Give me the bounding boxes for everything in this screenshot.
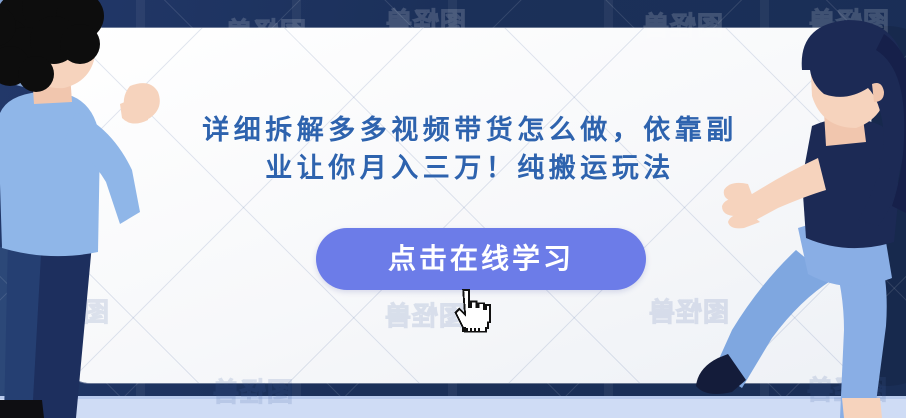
promo-banner: 详细拆解多多视频带货怎么做，依靠副 业让你月入三万！纯搬运玩法 点击在线学习 图… — [0, 0, 906, 418]
cta-label: 点击在线学习 — [388, 245, 574, 273]
banner-title: 详细拆解多多视频带货怎么做，依靠副 业让你月入三万！纯搬运玩法 — [160, 112, 780, 189]
title-line-2: 业让你月入三万！纯搬运玩法 — [160, 150, 780, 188]
cta-online-learning-button[interactable]: 点击在线学习 — [316, 228, 646, 290]
hand-cursor-icon — [452, 288, 492, 336]
title-line-1: 详细拆解多多视频带货怎么做，依靠副 — [160, 112, 780, 150]
illustration-person-right — [676, 30, 906, 418]
illustration-person-left — [0, 0, 160, 418]
